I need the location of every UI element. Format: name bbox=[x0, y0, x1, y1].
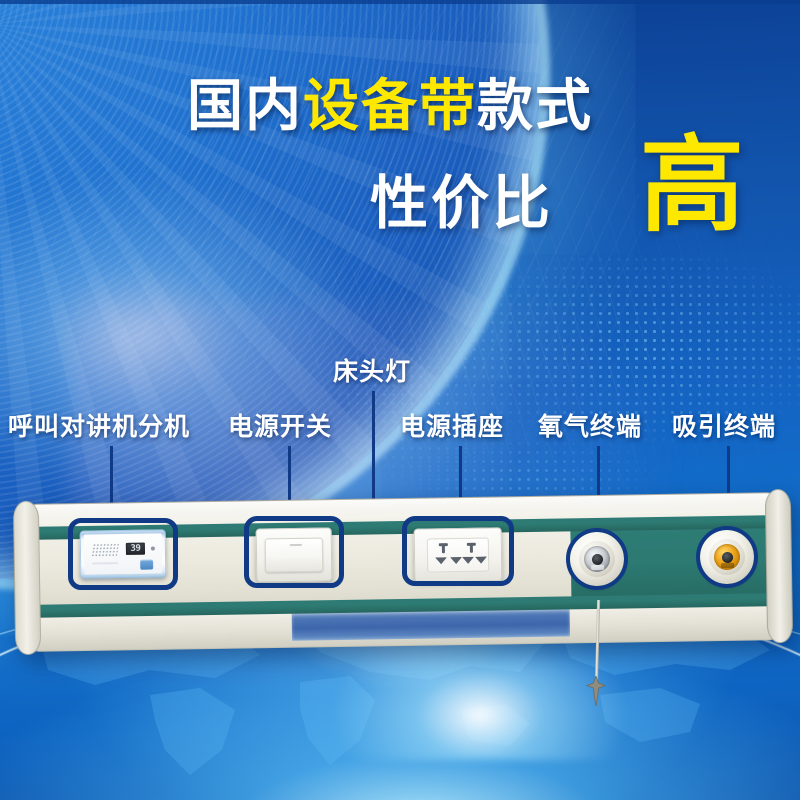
callout-label-power-socket: 电源插座 bbox=[400, 415, 504, 440]
annotation-box-power-socket bbox=[402, 516, 514, 586]
annotation-box-power-switch bbox=[244, 516, 344, 588]
callout-label-power-switch: 电源开关 bbox=[228, 415, 332, 440]
headline-part-bedhead: 设备带 bbox=[303, 74, 477, 137]
top-edge-line bbox=[0, 0, 800, 4]
pull-cord-weight[interactable] bbox=[585, 676, 607, 706]
panel-end-cap-left bbox=[13, 501, 41, 655]
annotation-box-intercom bbox=[68, 518, 178, 590]
headline-part-style: 款式 bbox=[477, 74, 593, 137]
pull-cord-weight-icon bbox=[585, 676, 607, 706]
annotation-circle-oxygen bbox=[566, 528, 628, 590]
bed-lamp-diffuser-strip bbox=[292, 609, 570, 640]
annotation-circle-suction bbox=[696, 526, 758, 588]
headline-value-ratio: 性价比 bbox=[370, 156, 553, 240]
headline-part-domestic: 国内 bbox=[187, 74, 303, 137]
callout-label-intercom: 呼叫对讲机分机 bbox=[8, 415, 190, 440]
callout-label-oxygen-terminal: 氧气终端 bbox=[538, 415, 642, 440]
headline-line-2: 性价比 高 bbox=[0, 156, 800, 242]
headline-high: 高 bbox=[640, 134, 744, 238]
headline-block: 国内设备带款式 性价比 高 bbox=[0, 78, 800, 242]
poster-canvas: 国内设备带款式 性价比 高 呼叫对讲机分机 电源开关 床头灯 电源插座 氧气终端… bbox=[0, 0, 800, 800]
callout-label-bed-lamp: 床头灯 bbox=[333, 360, 411, 385]
callout-label-suction-terminal: 吸引终端 bbox=[672, 415, 776, 440]
panel-end-cap-right bbox=[765, 489, 793, 643]
headline-line-1: 国内设备带款式 bbox=[0, 78, 800, 134]
